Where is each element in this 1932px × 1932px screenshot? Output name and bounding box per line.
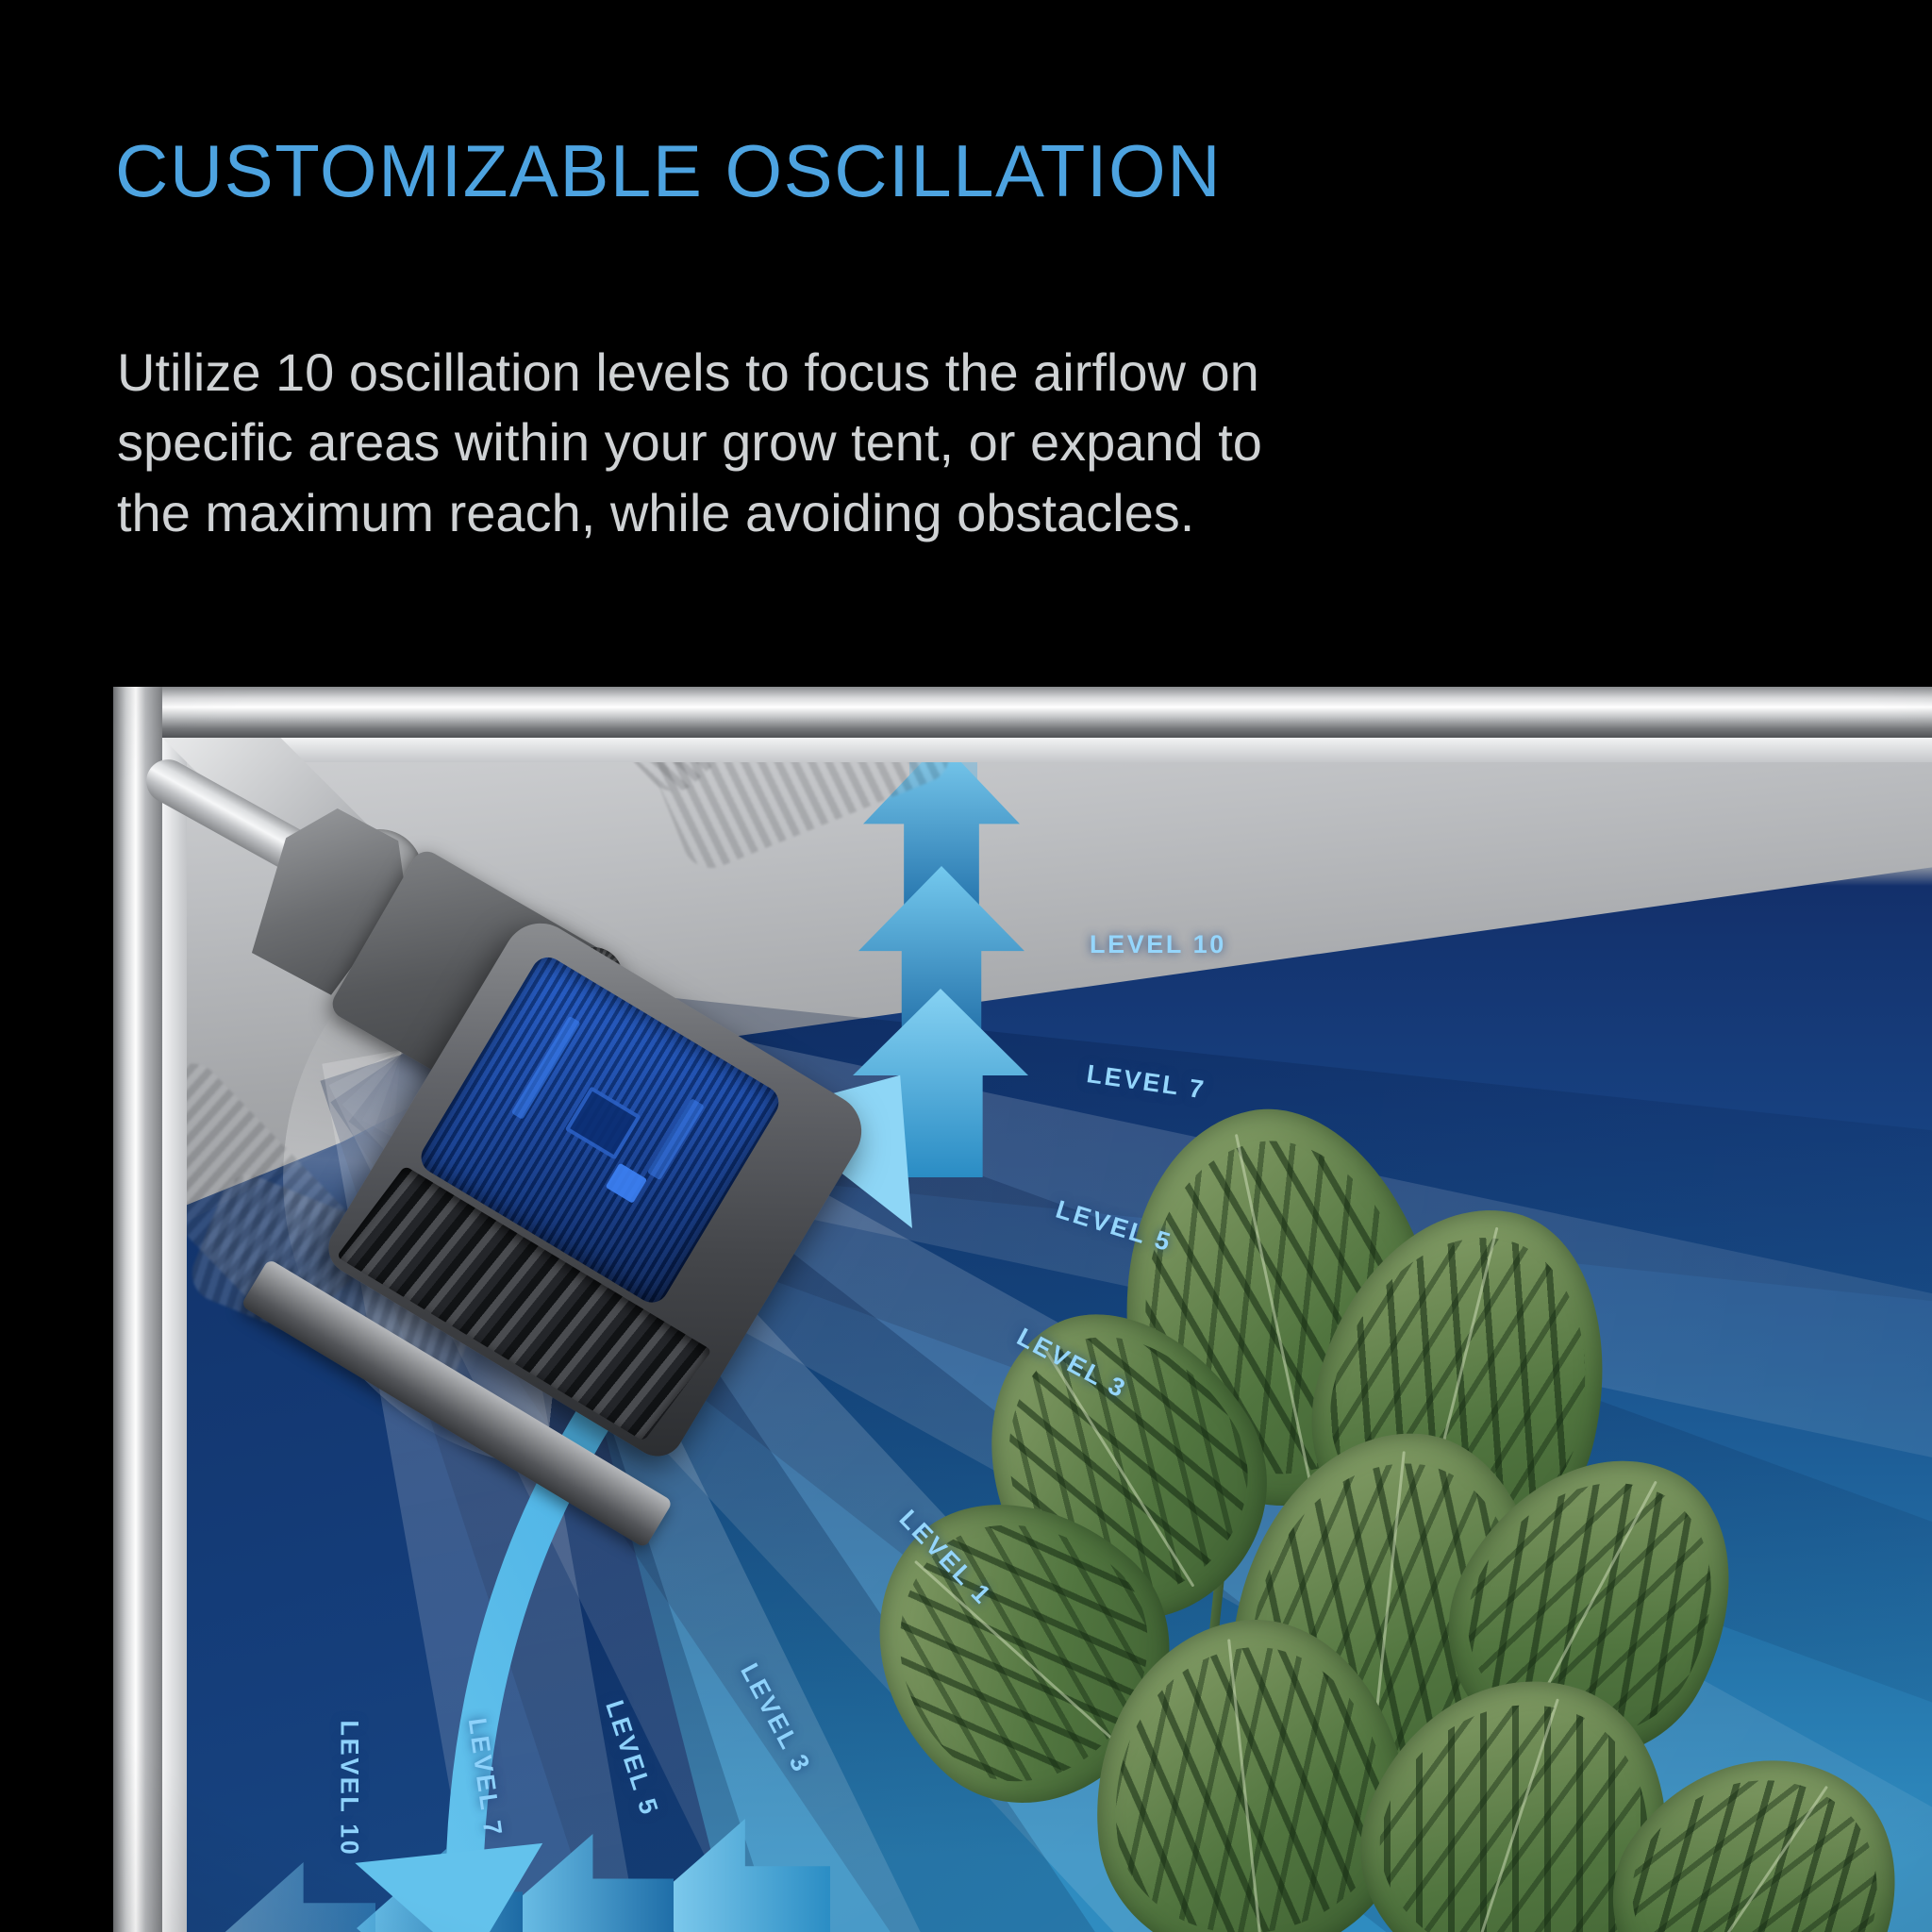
tent-frame-top-inner — [162, 738, 1932, 762]
oscillating-clip-fan — [283, 885, 868, 1470]
grow-tent-scene-image: LEVEL 10 LEVEL 7 LEVEL 5 LEVEL 3 LEVEL 1… — [113, 687, 1932, 1932]
slide-root: CUSTOMIZABLE OSCILLATION Utilize 10 osci… — [0, 0, 1932, 1932]
tent-frame-left-inner — [162, 738, 187, 1932]
description-line-1: Utilize 10 oscillation levels to focus t… — [117, 338, 1777, 408]
fan-pcb-trace-left — [511, 1016, 581, 1120]
description-paragraph: Utilize 10 oscillation levels to focus t… — [117, 338, 1777, 548]
fan-chip-small — [606, 1163, 648, 1204]
page-title: CUSTOMIZABLE OSCILLATION — [115, 134, 1222, 208]
description-line-3: the maximum reach, while avoiding obstac… — [117, 478, 1777, 548]
level-label-right-10: LEVEL 10 — [1090, 930, 1226, 959]
level-label-bottom-10: LEVEL 10 — [335, 1721, 364, 1857]
tent-frame-top-pole — [113, 687, 1932, 738]
description-line-2: specific areas within your grow tent, or… — [117, 408, 1777, 477]
fan-chip-main — [565, 1086, 641, 1159]
fan-pcb-trace-right — [647, 1098, 705, 1180]
tent-frame-left-pole — [113, 687, 162, 1932]
